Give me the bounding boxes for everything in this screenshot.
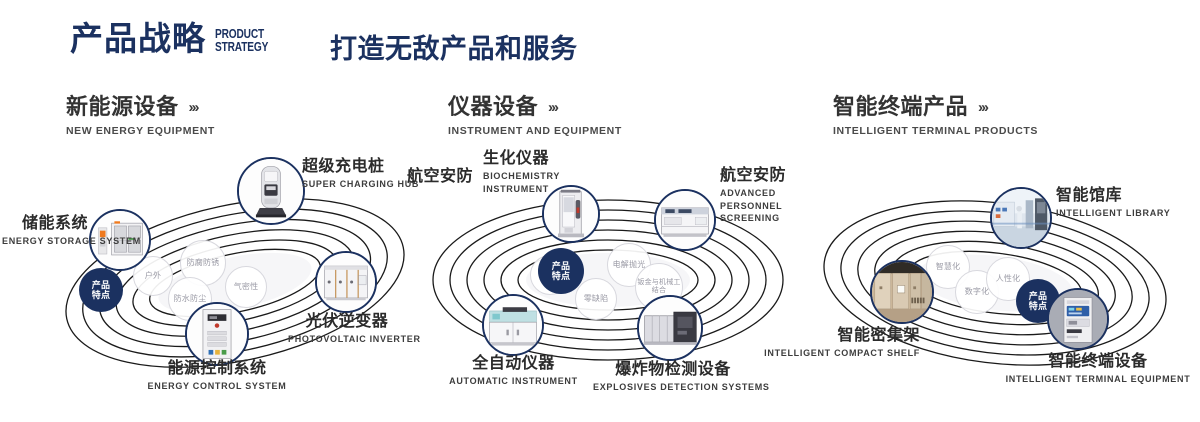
node-label-cn: 生化仪器 — [483, 150, 583, 168]
section-title-cn: 智能终端产品 ››› — [833, 96, 1038, 118]
core-bubble-line2: 特点 — [92, 290, 110, 300]
core-bubble-line1: 产品 — [1029, 291, 1047, 301]
node-label-photovoltaic-inverter: 光伏逆变器 PHOTOVOLTAIC INVERTER — [288, 313, 406, 346]
node-label-en: BIOCHEMISTRY INSTRUMENT — [483, 170, 583, 194]
page-slogan: 打造无敌产品和服务 — [330, 36, 578, 63]
node-label-en: INTELLIGENT LIBRARY — [1056, 207, 1170, 219]
node-label-super-charging-hub: 超级充电桩 SUPER CHARGING HUB — [302, 158, 419, 191]
feature-bubble-label: 电解抛光 — [613, 261, 646, 270]
biochemistry-scanner-icon — [544, 187, 598, 241]
section-title-cn-text: 仪器设备 — [448, 96, 538, 118]
compact-shelving-icon — [872, 262, 932, 322]
chevron-right-icon: ››› — [548, 100, 557, 115]
node-label-cn: 智能密集架 — [720, 327, 920, 345]
section-title-en: NEW ENERGY EQUIPMENT — [66, 125, 215, 137]
page-title-en-line2: STRATEGY — [215, 40, 268, 53]
page-title-cn: 产品战略 — [70, 22, 206, 55]
node-label-en: ENERGY STORAGE SYSTEM — [2, 235, 88, 247]
node-label-intelligent-terminal-equipment: 智能终端设备 INTELLIGENT TERMINAL EQUIPMENT — [998, 353, 1198, 386]
feature-bubble-label: 数字化 — [965, 288, 990, 297]
node-energy-control-system[interactable] — [185, 302, 249, 366]
node-label-energy-control-system: 能源控制系统 ENERGY CONTROL SYSTEM — [137, 360, 297, 393]
node-label-en: INTELLIGENT COMPACT SHELF — [720, 347, 920, 359]
node-label-automatic-instrument: 全自动仪器 AUTOMATIC INSTRUMENT — [436, 355, 591, 388]
node-super-charging-hub[interactable] — [237, 157, 305, 225]
core-bubble-line1: 产品 — [92, 280, 110, 290]
node-label-energy-storage-system: 储能系统 ENERGY STORAGE SYSTEM — [2, 215, 88, 248]
node-label-cn: 光伏逆变器 — [288, 313, 406, 331]
node-label-intelligent-library: 智能馆库 INTELLIGENT LIBRARY — [1056, 187, 1170, 220]
cluster-instrument-and-equipment: 镜面 电解抛光 钣金与机械工结合 零缺陷 产品 特点 航空安防 — [408, 155, 808, 405]
feature-bubble: 气密性 — [225, 266, 267, 308]
core-bubble-label: 产品 特点 — [552, 261, 570, 282]
node-label-aviation-security: 航空安防 — [403, 168, 473, 186]
feature-bubble-label: 防腐防锈 — [187, 259, 220, 268]
cluster-new-energy-equipment: 防腐防锈 户外 气密性 防水防尘 产品 特点 — [30, 155, 430, 405]
feature-bubble-label: 零缺陷 — [584, 295, 609, 304]
control-cabinet-icon — [187, 304, 247, 364]
node-label-cn: 航空安防 — [720, 167, 812, 185]
core-bubble-line2: 特点 — [1029, 301, 1047, 311]
core-bubble-label: 产品 特点 — [1029, 291, 1047, 312]
section-title-instrument: 仪器设备 ››› INSTRUMENT AND EQUIPMENT — [448, 96, 622, 137]
core-bubble-label: 产品 特点 — [92, 280, 110, 301]
node-label-explosives-detection-systems: 爆炸物检测设备 EXPLOSIVES DETECTION SYSTEMS — [593, 361, 753, 394]
node-label-en: AUTOMATIC INSTRUMENT — [436, 375, 591, 387]
node-label-en: ADVANCED PERSONNEL SCREENING — [720, 187, 812, 223]
section-title-cn-text: 新能源设备 — [66, 96, 179, 118]
core-bubble-product-features: 产品 特点 — [538, 248, 584, 294]
section-title-new-energy: 新能源设备 ››› NEW ENERGY EQUIPMENT — [66, 96, 215, 137]
explosive-detector-icon — [639, 297, 701, 359]
section-title-cn: 仪器设备 ››› — [448, 96, 622, 118]
feature-bubble: 零缺陷 — [575, 278, 617, 320]
node-intelligent-terminal-equipment[interactable] — [1047, 288, 1109, 350]
node-label-en: INTELLIGENT TERMINAL EQUIPMENT — [998, 373, 1198, 385]
section-title-en: INTELLIGENT TERMINAL PRODUCTS — [833, 125, 1038, 137]
page-header: 产品战略 PRODUCT STRATEGY — [70, 22, 283, 55]
feature-bubble-label: 钣金与机械工结合 — [636, 279, 682, 294]
feature-bubble-label: 户外 — [145, 272, 161, 281]
node-label-cn: 爆炸物检测设备 — [593, 361, 753, 379]
core-bubble-line2: 特点 — [552, 271, 570, 281]
node-photovoltaic-inverter[interactable] — [315, 251, 377, 313]
feature-bubble-label: 气密性 — [234, 283, 259, 292]
section-title-en: INSTRUMENT AND EQUIPMENT — [448, 125, 622, 137]
chevron-right-icon: ››› — [189, 100, 198, 115]
feature-bubble-label: 防水防尘 — [174, 295, 207, 304]
node-label-en: EXPLOSIVES DETECTION SYSTEMS — [593, 381, 753, 393]
automatic-analyzer-icon — [484, 296, 542, 354]
node-advanced-personnel-screening[interactable] — [654, 189, 716, 251]
section-title-cn: 新能源设备 ››› — [66, 96, 215, 118]
node-label-cn: 智能终端设备 — [998, 353, 1198, 371]
personnel-screening-machine-icon — [656, 191, 714, 249]
core-bubble-product-features: 产品 特点 — [79, 268, 123, 312]
node-automatic-instrument[interactable] — [482, 294, 544, 356]
node-label-cn: 航空安防 — [403, 168, 473, 186]
chevron-right-icon: ››› — [978, 100, 987, 115]
node-explosives-detection-systems[interactable] — [637, 295, 703, 361]
smart-library-room-icon — [992, 189, 1050, 247]
node-label-cn: 超级充电桩 — [302, 158, 419, 176]
self-service-kiosk-icon — [1049, 290, 1107, 348]
page-title-en: PRODUCT STRATEGY — [215, 27, 268, 53]
node-label-en: SUPER CHARGING HUB — [302, 178, 419, 190]
ev-charging-pile-icon — [239, 159, 303, 223]
feature-bubble-label: 智慧化 — [936, 263, 961, 272]
node-label-biochemistry-instrument: 生化仪器 BIOCHEMISTRY INSTRUMENT — [483, 150, 583, 195]
feature-bubble-label: 人性化 — [996, 275, 1021, 284]
node-label-intelligent-compact-shelf: 智能密集架 INTELLIGENT COMPACT SHELF — [720, 327, 920, 360]
pv-inverter-cabinet-icon — [317, 253, 375, 311]
node-label-cn: 全自动仪器 — [436, 355, 591, 373]
node-label-cn: 智能馆库 — [1056, 187, 1170, 205]
product-strategy-infographic: 产品战略 PRODUCT STRATEGY 打造无敌产品和服务 新能源设备 ››… — [0, 0, 1200, 422]
node-label-cn: 储能系统 — [2, 215, 88, 233]
node-intelligent-library[interactable] — [990, 187, 1052, 249]
core-bubble-line1: 产品 — [552, 261, 570, 271]
node-label-cn: 能源控制系统 — [137, 360, 297, 378]
node-label-en: ENERGY CONTROL SYSTEM — [137, 380, 297, 392]
node-label-advanced-personnel-screening: 航空安防 ADVANCED PERSONNEL SCREENING — [720, 167, 812, 224]
cluster-intelligent-terminal-products: 智慧化 数字化 人性化 产品 特点 — [800, 155, 1200, 405]
section-title-intelligent-terminal: 智能终端产品 ››› INTELLIGENT TERMINAL PRODUCTS — [833, 96, 1038, 137]
node-intelligent-compact-shelf[interactable] — [870, 260, 934, 324]
node-label-en: PHOTOVOLTAIC INVERTER — [288, 333, 406, 345]
section-title-cn-text: 智能终端产品 — [833, 96, 968, 118]
